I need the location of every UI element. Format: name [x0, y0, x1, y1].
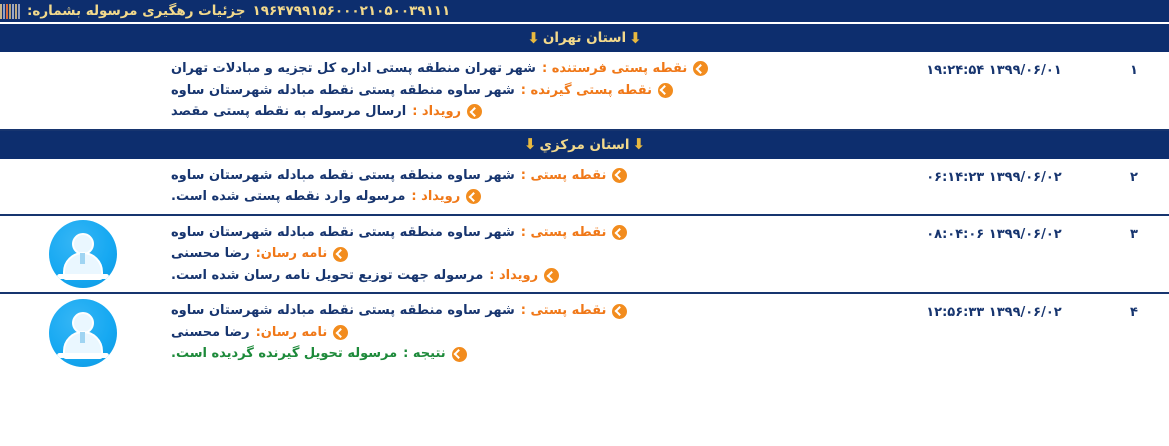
event-datetime: ۰۸:۰۴:۰۶ ۱۳۹۹/۰۶/۰۲: [889, 216, 1099, 242]
detail-line: نقطه پستی فرستنده :شهر تهران منطقه پستی …: [171, 60, 708, 78]
detail-label: نتیجه :: [403, 345, 445, 363]
detail-value: رضا محسنی: [171, 245, 250, 263]
avatar: [49, 220, 117, 288]
avatar: [49, 299, 117, 367]
row-index: ۱: [1099, 52, 1169, 78]
detail-line: رویداد :مرسوله وارد نقطه پستی شده است.: [171, 188, 481, 206]
detail-label: رویداد :: [411, 188, 460, 206]
arrow-left-bullet-icon: [466, 189, 481, 204]
province-header: ⬇استان مرکزي⬇: [0, 131, 1169, 159]
detail-value: رضا محسنی: [171, 324, 250, 342]
province-header: ⬇استان تهران⬇: [0, 24, 1169, 52]
arrow-left-bullet-icon: [693, 61, 708, 76]
detail-label: نامه رسان:: [256, 324, 328, 342]
courier-avatar-cell: [0, 294, 165, 371]
event-datetime: ۱۹:۲۴:۵۴ ۱۳۹۹/۰۶/۰۱: [889, 52, 1099, 78]
province-label: استان مرکزي: [539, 137, 629, 153]
tracking-groups: ⬇استان تهران⬇۱۱۹:۲۴:۵۴ ۱۳۹۹/۰۶/۰۱نقطه پس…: [0, 24, 1169, 371]
avatar-base-icon: [57, 353, 109, 358]
detail-label: نامه رسان:: [256, 245, 328, 263]
detail-label: رویداد :: [412, 103, 461, 121]
detail-label: رویداد :: [489, 267, 538, 285]
arrow-left-bullet-icon: [658, 83, 673, 98]
detail-line: نقطه پستی گیرنده :شهر ساوه منطقه پستی نق…: [171, 82, 673, 100]
detail-value: ارسال مرسوله به نقطه پستی مقصد: [171, 103, 406, 121]
barcode-icon: [0, 4, 20, 19]
detail-line: نامه رسان:رضا محسنی: [171, 324, 348, 342]
detail-label: نقطه پستی :: [521, 224, 607, 242]
courier-avatar-cell: [0, 216, 165, 293]
arrow-left-bullet-icon: [452, 347, 467, 362]
detail-line: نامه رسان:رضا محسنی: [171, 245, 348, 263]
detail-label: نقطه پستی :: [521, 302, 607, 320]
arrow-left-bullet-icon: [467, 104, 482, 119]
event-datetime: ۰۶:۱۴:۲۳ ۱۳۹۹/۰۶/۰۲: [889, 159, 1099, 185]
detail-line: نقطه پستی :شهر ساوه منطقه پستی نقطه مباد…: [171, 167, 627, 185]
detail-line: رویداد :ارسال مرسوله به نقطه پستی مقصد: [171, 103, 482, 121]
tracking-details-panel: جزئیات رهگیری مرسوله بشماره: ۱۹۶۴۷۹۹۱۵۶۰…: [0, 0, 1169, 446]
arrow-down-icon: ⬇: [633, 137, 646, 152]
detail-line: نقطه پستی :شهر ساوه منطقه پستی نقطه مباد…: [171, 224, 627, 242]
tracking-number: ۱۹۶۴۷۹۹۱۵۶۰۰۰۲۱۰۵۰۰۳۹۱۱۱: [253, 3, 451, 19]
row-index: ۲: [1099, 159, 1169, 185]
detail-value: شهر ساوه منطقه پستی نقطه مبادله شهرستان …: [171, 167, 515, 185]
detail-value: شهر ساوه منطقه پستی نقطه مبادله شهرستان …: [171, 224, 515, 242]
arrow-down-icon: ⬇: [524, 137, 537, 152]
event-row: ۲۰۶:۱۴:۲۳ ۱۳۹۹/۰۶/۰۲نقطه پستی :شهر ساوه …: [0, 159, 1169, 216]
event-datetime: ۱۲:۵۶:۳۳ ۱۳۹۹/۰۶/۰۲: [889, 294, 1099, 320]
row-index: ۴: [1099, 294, 1169, 320]
detail-line: نقطه پستی :شهر ساوه منطقه پستی نقطه مباد…: [171, 302, 627, 320]
detail-value: مرسوله تحویل گیرنده گردیده است.: [171, 345, 397, 363]
event-details: نقطه پستی :شهر ساوه منطقه پستی نقطه مباد…: [165, 294, 889, 371]
avatar-tie-icon: [80, 332, 85, 343]
arrow-left-bullet-icon: [333, 247, 348, 262]
detail-value: شهر ساوه منطقه پستی نقطه مبادله شهرستان …: [171, 302, 515, 320]
arrow-down-icon: ⬇: [629, 31, 642, 46]
arrow-left-bullet-icon: [612, 225, 627, 240]
detail-value: مرسوله وارد نقطه پستی شده است.: [171, 188, 405, 206]
detail-label: نقطه پستی فرستنده :: [542, 60, 687, 78]
event-details: نقطه پستی فرستنده :شهر تهران منطقه پستی …: [165, 52, 889, 129]
detail-value: شهر تهران منطقه پستی اداره کل تجزیه و مب…: [171, 60, 536, 78]
event-row: ۳۰۸:۰۴:۰۶ ۱۳۹۹/۰۶/۰۲نقطه پستی :شهر ساوه …: [0, 216, 1169, 295]
avatar-base-icon: [57, 274, 109, 279]
page-title: جزئیات رهگیری مرسوله بشماره:: [27, 3, 246, 19]
title-bar: جزئیات رهگیری مرسوله بشماره: ۱۹۶۴۷۹۹۱۵۶۰…: [0, 0, 1169, 24]
arrow-left-bullet-icon: [544, 268, 559, 283]
arrow-down-icon: ⬇: [527, 31, 540, 46]
province-label: استان تهران: [543, 30, 626, 46]
detail-line: رویداد :مرسوله جهت توزیع تحویل نامه رسان…: [171, 267, 559, 285]
detail-value: مرسوله جهت توزیع تحویل نامه رسان شده است…: [171, 267, 483, 285]
event-details: نقطه پستی :شهر ساوه منطقه پستی نقطه مباد…: [165, 216, 889, 293]
courier-avatar-cell: [0, 159, 165, 214]
detail-value: شهر ساوه منطقه پستی نقطه مبادله شهرستان …: [171, 82, 515, 100]
arrow-left-bullet-icon: [333, 325, 348, 340]
detail-label: نقطه پستی گیرنده :: [521, 82, 652, 100]
arrow-left-bullet-icon: [612, 168, 627, 183]
row-index: ۳: [1099, 216, 1169, 242]
event-row: ۴۱۲:۵۶:۳۳ ۱۳۹۹/۰۶/۰۲نقطه پستی :شهر ساوه …: [0, 294, 1169, 371]
detail-line: نتیجه :مرسوله تحویل گیرنده گردیده است.: [171, 345, 467, 363]
arrow-left-bullet-icon: [612, 304, 627, 319]
detail-label: نقطه پستی :: [521, 167, 607, 185]
avatar-tie-icon: [80, 253, 85, 264]
event-row: ۱۱۹:۲۴:۵۴ ۱۳۹۹/۰۶/۰۱نقطه پستی فرستنده :ش…: [0, 52, 1169, 131]
event-details: نقطه پستی :شهر ساوه منطقه پستی نقطه مباد…: [165, 159, 889, 214]
courier-avatar-cell: [0, 52, 165, 129]
